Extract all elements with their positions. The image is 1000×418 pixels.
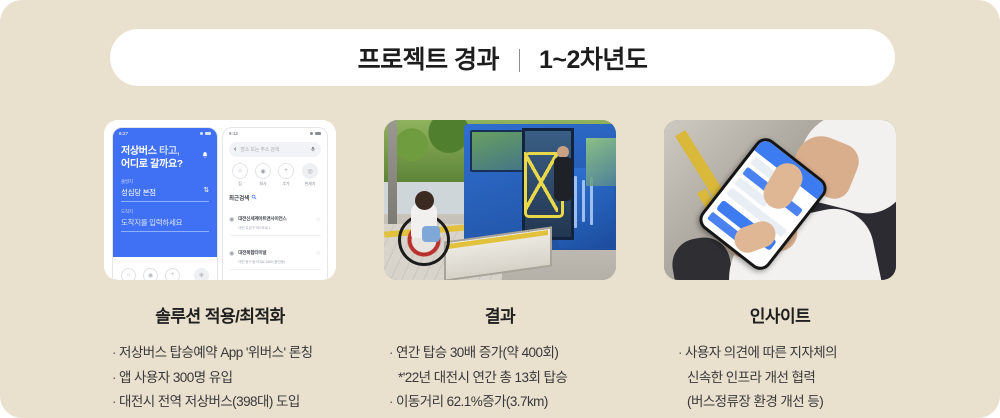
bottom-nav-left: ⌂ ◉ + ✾ <box>113 257 217 280</box>
bullet-marker: · <box>389 394 393 409</box>
home-icon: ⌂ <box>232 163 248 179</box>
column-solution: 6:27 저상버스 타고, 어디 <box>104 120 336 413</box>
mic-icon[interactable] <box>310 146 316 154</box>
recent-item-title: 대전복합터미널 <box>238 250 266 255</box>
column-heading: 결과 <box>485 302 515 327</box>
quick-item-home[interactable]: ⌂ 집 <box>231 163 249 187</box>
search-icon <box>251 194 257 202</box>
column-result: 결과 ·연간 탑승 30배 증가(약 400회) *'22년 대전시 연간 총 … <box>384 120 616 413</box>
pin-icon: ◉ <box>255 163 271 179</box>
nav-add-icon[interactable]: + <box>165 268 180 281</box>
recent-search-label: 최근검색 <box>229 194 249 202</box>
status-bar-left: 6:27 <box>113 128 217 139</box>
back-icon[interactable]: ‹ <box>234 146 236 153</box>
search-bar[interactable]: ‹ 장소 또는 주소 검색 <box>229 142 321 157</box>
bullet-marker: · <box>112 370 116 385</box>
signal-icon <box>200 132 204 136</box>
nav-settings-icon[interactable]: ✾ <box>194 268 209 281</box>
quick-label: 현재지 <box>304 181 315 187</box>
bullet-text: 저상버스 탑승예약 App '위버스' 론칭 <box>119 345 313 360</box>
status-icons <box>310 132 322 136</box>
bell-icon[interactable] <box>201 147 209 156</box>
column-bullets: ·사용자 의견에 따른 지자체의 신속한 인프라 개선 협력 (버스정류장 환경… <box>650 343 910 413</box>
door-glass <box>586 138 616 186</box>
user-backpack <box>422 226 440 242</box>
phone-left: 6:27 저상버스 타고, 어디 <box>113 128 217 280</box>
phone-right: 9:12 ‹ 장소 또는 주소 검색 <box>223 128 327 280</box>
nav-place-icon[interactable]: ◉ <box>143 268 158 281</box>
phone-left-body: 저상버스 타고, 어디로 갈까요? 출발지 성심당 본점 ⇅ 도착지 도착지를 … <box>113 139 217 232</box>
quick-destinations: ⌂ 집 ◉ 회사 + 추가 <box>229 163 321 187</box>
street-pole <box>388 120 397 224</box>
nav-home-icon[interactable]: ⌂ <box>121 268 136 281</box>
bullet-text: 신속한 인프라 개선 협력 <box>687 370 815 385</box>
recent-item-subtitle: 대전 유성구 엑스포로 1 <box>238 226 311 231</box>
app-screens-mockup: 6:27 저상버스 타고, 어디 <box>104 120 336 280</box>
bullet-text: 이동거리 62.1%증가(3.7km) <box>396 394 548 409</box>
page-title: 프로젝트 경과 1~2차년도 <box>358 40 648 76</box>
headline-line2: 어디로 갈까요? <box>121 159 183 170</box>
bullet-marker: · <box>678 345 682 360</box>
standing-passenger <box>552 146 574 206</box>
bullet-item: ·연간 탑승 30배 증가(약 400회) <box>389 343 558 364</box>
status-time: 9:12 <box>229 131 238 136</box>
recent-item-subtitle: 대전 동구 동서대로 1689 (용전동) <box>238 260 311 265</box>
status-icons <box>200 132 212 136</box>
origin-label: 출발지 <box>121 179 209 185</box>
column-bullets: ·저상버스 탑승예약 App '위버스' 론칭 ·앱 사용자 300명 유입 ·… <box>96 343 344 413</box>
user-holding-phone-photo <box>664 120 896 280</box>
bullet-text: (버스정류장 환경 개선 등) <box>687 394 823 409</box>
battery-icon <box>205 132 211 136</box>
bullet-item: ·앱 사용자 300명 유입 <box>112 368 233 389</box>
status-bar-right: 9:12 <box>223 128 327 139</box>
bullet-marker: · <box>112 394 116 409</box>
bullet-text: *'22년 대전시 연간 총 13회 탑승 <box>398 370 567 385</box>
ad-line <box>582 180 585 222</box>
recent-item-text: 대전신세계아트앤사이언스 대전 유성구 엑스포로 1 <box>238 207 311 231</box>
bullet-item: ·이동거리 62.1%증가(3.7km) <box>389 392 548 413</box>
pin-icon: ◉ <box>229 216 234 223</box>
search-input[interactable]: 장소 또는 주소 검색 <box>240 146 306 153</box>
target-icon: ◎ <box>302 163 318 179</box>
bullet-marker: · <box>112 345 116 360</box>
bullet-text: 연간 탑승 30배 증가(약 400회) <box>396 345 558 360</box>
page-title-main: 프로젝트 경과 <box>358 46 499 74</box>
user-head <box>415 191 434 210</box>
title-pill: 프로젝트 경과 1~2차년도 <box>110 29 895 86</box>
quick-label: 집 <box>238 181 242 187</box>
favorite-star-icon[interactable]: ☆ <box>316 250 321 257</box>
column-heading: 솔루션 적용/최적화 <box>155 302 285 327</box>
bullet-text: 대전시 전역 저상버스(398대) 도입 <box>119 394 300 409</box>
bus-scene-illustration <box>384 120 616 280</box>
origin-input[interactable]: 성심당 본점 ⇅ <box>121 187 209 202</box>
bullet-text: 앱 사용자 300명 유입 <box>119 370 233 385</box>
recent-item[interactable]: ◉ 대전복합터미널 대전 동구 동서대로 1689 (용전동) ☆ <box>229 241 321 270</box>
battery-icon <box>315 132 321 136</box>
destination-input[interactable]: 도착지를 입력하세요 <box>121 217 209 232</box>
bullet-item-cont: 신속한 인프라 개선 협력 <box>678 368 815 389</box>
signal-icon <box>310 132 314 136</box>
swap-icon[interactable]: ⇅ <box>203 186 209 194</box>
ad-line <box>574 176 577 228</box>
passenger-body <box>554 157 572 201</box>
bullet-item: ·저상버스 탑승예약 App '위버스' 론칭 <box>112 343 313 364</box>
title-separator <box>519 49 520 72</box>
bullet-item: ·대전시 전역 저상버스(398대) 도입 <box>112 392 300 413</box>
headline-rest: 타고, <box>157 146 180 157</box>
recent-item[interactable]: ◉ 대전신세계아트앤사이언스 대전 유성구 엑스포로 1 ☆ <box>229 207 321 236</box>
recent-item-title: 대전신세계아트앤사이언스 <box>238 216 286 221</box>
quick-label: 추가 <box>282 181 289 187</box>
wheelchair-bus-boarding-photo <box>384 120 616 280</box>
bullet-item-sub: *'22년 대전시 연간 총 13회 탑승 <box>389 368 567 389</box>
bullet-text: 사용자 의견에 따른 지자체의 <box>685 345 837 360</box>
favorite-star-icon[interactable]: ☆ <box>316 216 321 223</box>
quick-label: 회사 <box>259 181 266 187</box>
plus-icon: + <box>278 163 294 179</box>
pin-icon: ◉ <box>229 250 234 257</box>
origin-value: 성심당 본점 <box>121 188 156 197</box>
quick-item-add[interactable]: + 추가 <box>277 163 295 187</box>
quick-item-current[interactable]: ◎ 현재지 <box>301 163 319 187</box>
recent-item-text: 대전복합터미널 대전 동구 동서대로 1689 (용전동) <box>238 241 311 265</box>
destination-label: 도착지 <box>121 209 209 215</box>
column-heading: 인사이트 <box>750 302 811 327</box>
app-headline: 저상버스 타고, 어디로 갈까요? <box>121 146 209 172</box>
column-bullets: ·연간 탑승 30배 증가(약 400회) *'22년 대전시 연간 총 13회… <box>379 343 621 413</box>
quick-item-work[interactable]: ◉ 회사 <box>254 163 272 187</box>
bullet-item: ·사용자 의견에 따른 지자체의 <box>678 343 837 364</box>
slide-root: 프로젝트 경과 1~2차년도 6:27 <box>0 0 1000 418</box>
page-title-sub: 1~2차년도 <box>539 46 647 74</box>
recent-search-heading: 최근검색 <box>229 194 321 202</box>
hands-phone-illustration <box>664 120 896 280</box>
column-insight: 인사이트 ·사용자 의견에 따른 지자체의 신속한 인프라 개선 협력 (버스정… <box>664 120 896 413</box>
content-columns: 6:27 저상버스 타고, 어디 <box>0 120 1000 413</box>
bullet-item-cont: (버스정류장 환경 개선 등) <box>678 392 823 413</box>
headline-strong: 저상버스 <box>121 146 157 157</box>
status-time: 6:27 <box>119 131 128 136</box>
wheelchair-user <box>398 192 454 266</box>
bullet-marker: · <box>389 345 393 360</box>
phone-right-body: ‹ 장소 또는 주소 검색 ⌂ 집 <box>223 139 327 270</box>
phone-mockup-pair: 6:27 저상버스 타고, 어디 <box>104 120 336 280</box>
